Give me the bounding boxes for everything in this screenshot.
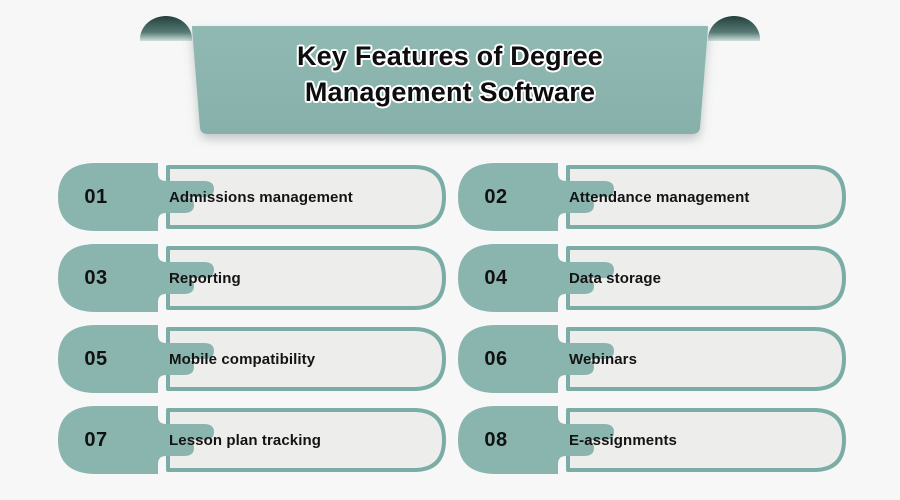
- feature-shape: [458, 406, 848, 474]
- feature-shape: [58, 163, 448, 231]
- feature-shape: [458, 163, 848, 231]
- feature-item-04[interactable]: 04 Data storage: [458, 244, 848, 312]
- header-banner: Key Features of Degree Management Softwa…: [0, 0, 900, 150]
- feature-shape: [58, 244, 448, 312]
- feature-shape: [458, 325, 848, 393]
- feature-pill: [168, 410, 444, 470]
- feature-item-03[interactable]: 03 Reporting: [58, 244, 448, 312]
- feature-pill: [568, 410, 844, 470]
- feature-pill: [568, 167, 844, 227]
- feature-item-06[interactable]: 06 Webinars: [458, 325, 848, 393]
- feature-pill: [568, 248, 844, 308]
- page-title: Key Features of Degree Management Softwa…: [215, 38, 685, 111]
- feature-list: 01 Admissions management 02 Attendance m…: [0, 155, 900, 500]
- feature-item-02[interactable]: 02 Attendance management: [458, 163, 848, 231]
- feature-pill: [168, 167, 444, 227]
- ribbon-fold-left-icon: [140, 16, 192, 41]
- feature-item-07[interactable]: 07 Lesson plan tracking: [58, 406, 448, 474]
- feature-shape: [458, 244, 848, 312]
- feature-item-01[interactable]: 01 Admissions management: [58, 163, 448, 231]
- feature-pill: [168, 248, 444, 308]
- infographic-canvas: Key Features of Degree Management Softwa…: [0, 0, 900, 500]
- feature-pill: [168, 329, 444, 389]
- ribbon-fold-right-icon: [708, 16, 760, 41]
- feature-item-08[interactable]: 08 E-assignments: [458, 406, 848, 474]
- feature-shape: [58, 325, 448, 393]
- feature-shape: [58, 406, 448, 474]
- feature-pill: [568, 329, 844, 389]
- feature-item-05[interactable]: 05 Mobile compatibility: [58, 325, 448, 393]
